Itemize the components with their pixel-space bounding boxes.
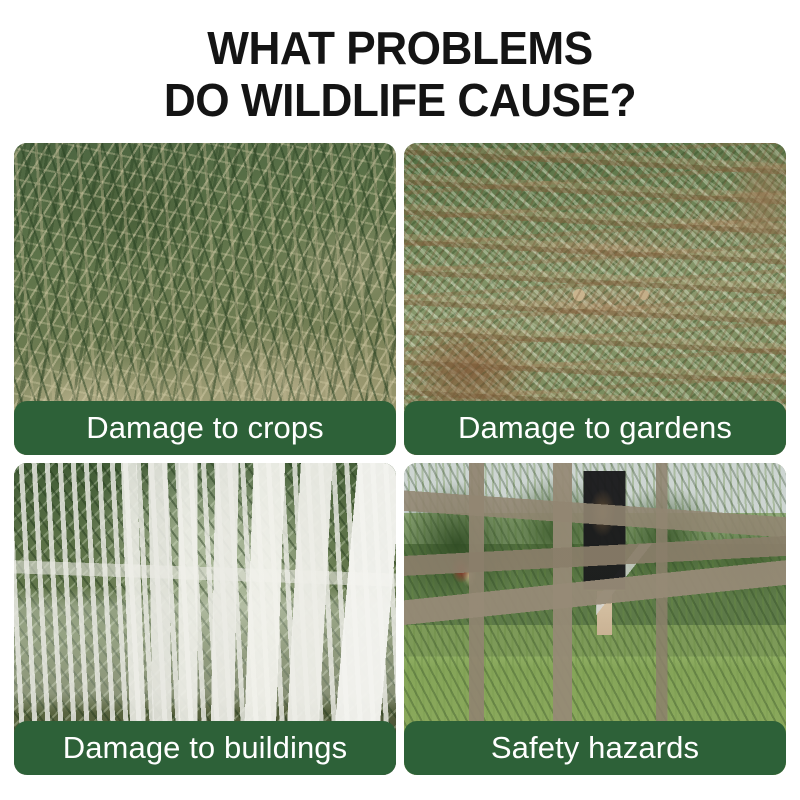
panel-crops[interactable]: Damage to crops xyxy=(14,143,396,455)
panel-label-crops: Damage to crops xyxy=(86,411,324,445)
label-bar-gardens: Damage to gardens xyxy=(404,401,786,455)
label-bar-crops: Damage to crops xyxy=(14,401,396,455)
child-shorts-detail xyxy=(585,547,625,591)
label-bar-buildings: Damage to buildings xyxy=(14,721,396,775)
panel-label-buildings: Damage to buildings xyxy=(63,731,348,765)
label-bar-safety-hazards: Safety hazards xyxy=(404,721,786,775)
panel-buildings[interactable]: Damage to buildings xyxy=(14,463,396,775)
panel-gardens[interactable]: Damage to gardens xyxy=(404,143,786,455)
title-line-2: DO WILDLIFE CAUSE? xyxy=(16,74,784,126)
panel-label-safety-hazards: Safety hazards xyxy=(491,731,699,765)
problem-panel-grid: Damage to crops Damage to gardens Damage… xyxy=(14,143,786,775)
page-title: WHAT PROBLEMS DO WILDLIFE CAUSE? xyxy=(0,22,800,126)
child-legs-detail xyxy=(597,591,612,635)
panel-label-gardens: Damage to gardens xyxy=(458,411,732,445)
infographic-poster: WHAT PROBLEMS DO WILDLIFE CAUSE? Damage … xyxy=(0,0,800,800)
title-line-1: WHAT PROBLEMS xyxy=(16,22,784,74)
panel-safety-hazards[interactable]: Safety hazards xyxy=(404,463,786,775)
